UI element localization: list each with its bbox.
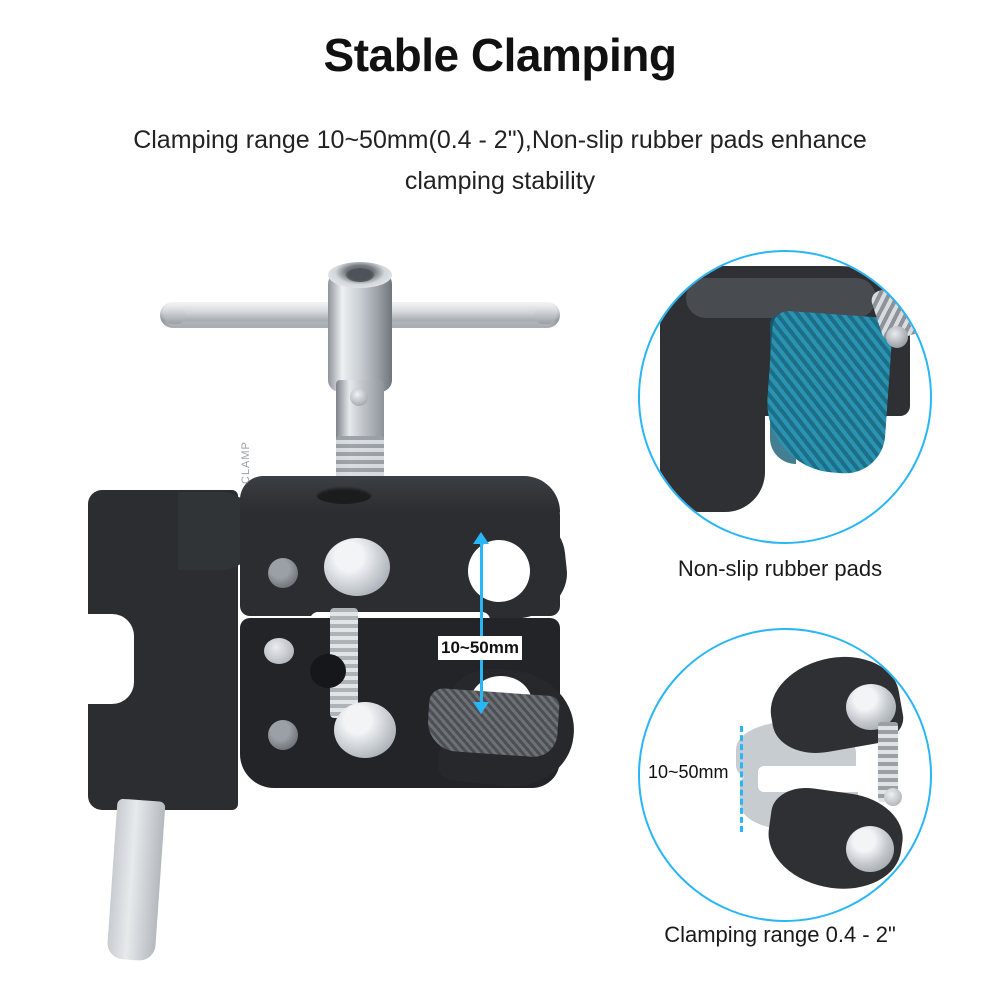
- screw-collar-hole: [346, 268, 374, 282]
- upper-jaw-notch: [468, 540, 530, 602]
- dimension-label: 10~50mm: [438, 636, 522, 660]
- zoom-jaw-arm: [660, 362, 765, 512]
- brand-text: CLAMP: [240, 414, 256, 484]
- ghost-mouth-gap: [758, 766, 878, 792]
- bracket-foot: [106, 799, 165, 962]
- clamp-mid-hole: [310, 654, 346, 688]
- zoom-screw-head: [886, 326, 908, 348]
- thread-hole-lower: [268, 720, 298, 750]
- pivot-screw-lower: [334, 702, 396, 758]
- bracket-slot: [88, 614, 134, 704]
- range-dimension-label: 10~50mm: [648, 762, 729, 783]
- side-rivet: [264, 638, 294, 664]
- callout-caption-rubber-pads: Non-slip rubber pads: [600, 556, 960, 582]
- range-side-rivet: [884, 788, 902, 806]
- screw-collar: [328, 272, 392, 392]
- callout-rubber-pads: [638, 250, 932, 544]
- range-pivot-lower: [846, 826, 894, 872]
- callout-caption-clamping-range: Clamping range 0.4 - 2": [600, 922, 960, 948]
- t-handle-left-end: [164, 306, 186, 324]
- thread-hole-upper: [268, 558, 298, 588]
- page-title: Stable Clamping: [0, 28, 1000, 82]
- t-handle-right-end: [534, 306, 556, 324]
- shaft-rivet: [350, 388, 368, 406]
- rubber-pad: [426, 688, 560, 759]
- callout-clamping-range: 10~50mm: [638, 628, 932, 922]
- clamp-top-hole: [316, 486, 372, 504]
- product-photo: CLAMP 10~50mm: [60, 240, 620, 960]
- dimension-line: [480, 540, 483, 710]
- page-subtitle: Clamping range 10~50mm(0.4 - 2"),Non-sli…: [120, 120, 880, 202]
- pivot-screw-upper: [324, 538, 390, 596]
- range-dashed-line: [740, 726, 743, 832]
- dimension-arrow-down-icon: [473, 702, 489, 714]
